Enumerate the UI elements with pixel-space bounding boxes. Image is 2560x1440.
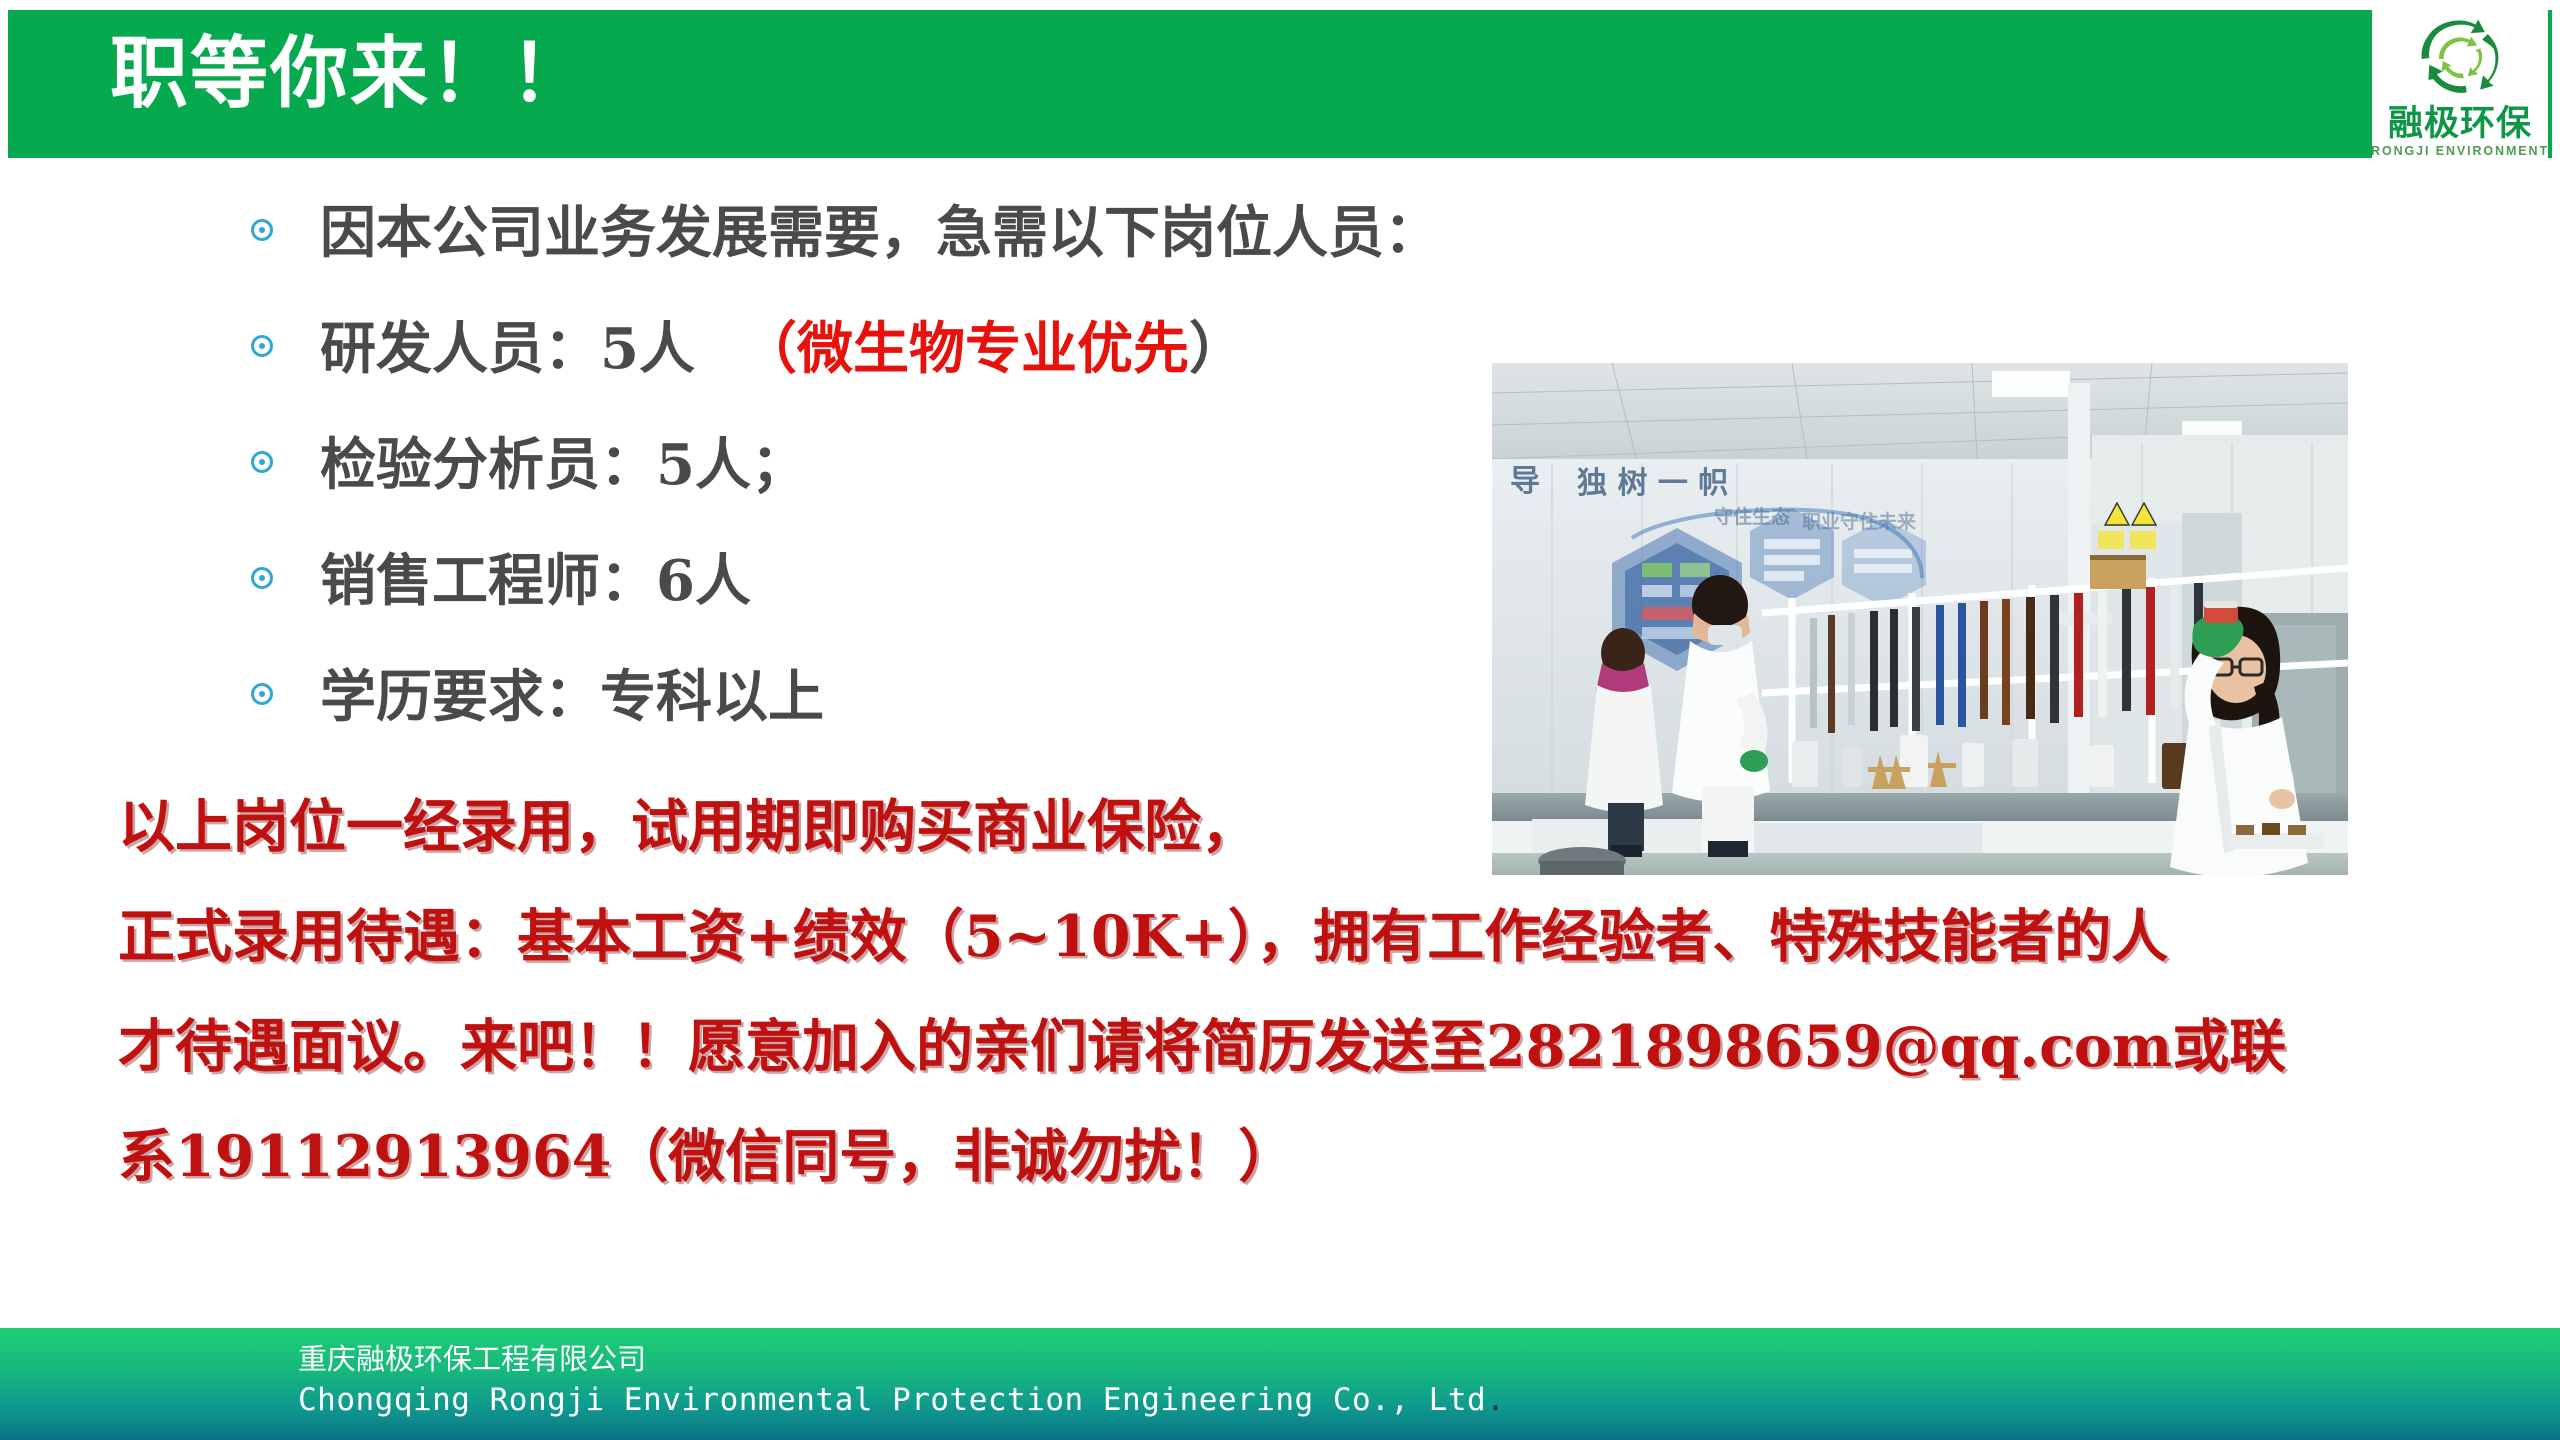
bullet-label-intro: 因本公司业务发展需要，急需以下岗位人员： xyxy=(320,196,1440,270)
red-line-4: 系19112913964（微信同号，非诚勿扰！） xyxy=(118,1102,2518,1212)
list-item: 检验分析员：5人； xyxy=(248,428,1548,502)
circle-dot-bullet-icon xyxy=(248,332,282,366)
recycling-circle-arrows-icon xyxy=(2412,12,2508,104)
bullet-label-education: 学历要求：专科以上 xyxy=(320,660,824,734)
circle-dot-bullet-icon xyxy=(248,564,282,598)
svg-text:导: 导 xyxy=(1510,464,1540,499)
bullet-label-analyst: 检验分析员：5人； xyxy=(320,428,807,502)
footer-company-en-text: Chongqing Rongji Environmental Protectio… xyxy=(298,1382,1486,1418)
company-logo: 融极环保 RONGJI ENVIRONMENT xyxy=(2372,6,2548,166)
recruitment-details-paragraph: 以上岗位一经录用，试用期即购买商业保险， 正式录用待遇：基本工资+绩效（5~10… xyxy=(118,772,2518,1212)
footer-company-cn: 重庆融极环保工程有限公司 xyxy=(298,1340,646,1378)
red-line-2: 正式录用待遇：基本工资+绩效（5~10K+），拥有工作经验者、特殊技能者的人 xyxy=(118,882,2518,992)
bullet-label-sales: 销售工程师：6人 xyxy=(320,544,751,618)
logo-name-cn: 融极环保 xyxy=(2388,105,2532,143)
footer-company-en: Chongqing Rongji Environmental Protectio… xyxy=(298,1380,1505,1420)
list-item: 因本公司业务发展需要，急需以下岗位人员： xyxy=(248,196,1548,270)
circle-dot-bullet-icon xyxy=(248,680,282,714)
list-item: 研发人员：5人（微生物专业优先） xyxy=(248,312,1548,386)
footer-bar: 重庆融极环保工程有限公司 Chongqing Rongji Environmen… xyxy=(0,1328,2560,1440)
circle-dot-bullet-icon xyxy=(248,448,282,482)
circle-dot-bullet-icon xyxy=(248,216,282,250)
list-item: 学历要求：专科以上 xyxy=(248,660,1548,734)
bullet-label-rd: 研发人员：5人（微生物专业优先） xyxy=(320,312,1245,386)
logo-name-en: RONGJI ENVIRONMENT xyxy=(2371,144,2549,159)
page-title: 职等你来！！ xyxy=(110,20,590,128)
footer-period: . xyxy=(1486,1382,1505,1418)
svg-text:独 树 一 帜: 独 树 一 帜 xyxy=(1577,466,1728,501)
red-line-1: 以上岗位一经录用，试用期即购买商业保险， xyxy=(118,772,2518,882)
bullet-rd-suffix: ） xyxy=(1189,316,1245,382)
list-item: 销售工程师：6人 xyxy=(248,544,1548,618)
bullet-rd-highlight: （微生物专业优先 xyxy=(741,316,1189,382)
job-positions-list: 因本公司业务发展需要，急需以下岗位人员： 研发人员：5人（微生物专业优先） 检验… xyxy=(248,196,1548,776)
bullet-rd-main: 研发人员：5人 xyxy=(320,316,695,382)
red-line-3: 才待遇面议。来吧！！愿意加入的亲们请将简历发送至2821898659@qq.co… xyxy=(118,992,2518,1102)
